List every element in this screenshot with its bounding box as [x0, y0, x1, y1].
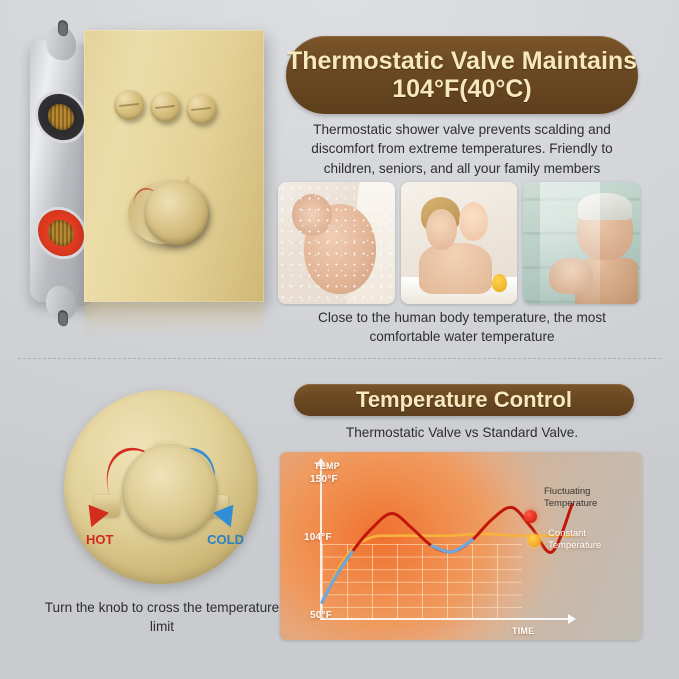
- diverter-knob-1: [114, 90, 144, 120]
- cold-label: COLD: [207, 532, 244, 547]
- temperature-comparison-chart: TEMP 150°F 104°F 50°F TIME Fluctuating T…: [280, 452, 642, 640]
- inlet-port-cold: [38, 207, 84, 258]
- mounting-slot-top: [58, 20, 68, 37]
- product-image-thermostatic-valve: [6, 18, 278, 338]
- lifestyle-photo-row: [278, 182, 640, 304]
- photo-pregnant-woman-shower: [278, 182, 395, 304]
- legend-label-fluctuating: Fluctuating Temperature: [544, 486, 636, 510]
- mounting-ear-bottom: [46, 284, 76, 321]
- photo-caption: Close to the human body temperature, the…: [286, 308, 638, 347]
- section-divider: [18, 358, 661, 359]
- photo-senior-man-shower: [523, 182, 640, 304]
- y-tick-50: 50°F: [310, 610, 332, 621]
- baby-head: [459, 202, 488, 241]
- y-axis-title: TEMP: [314, 461, 340, 471]
- handle-face: [144, 181, 208, 245]
- shower-water-stream: [540, 182, 601, 304]
- diverter-knob-2: [150, 92, 180, 122]
- mounting-ear-top: [46, 24, 76, 61]
- intro-paragraph: Thermostatic shower valve prevents scald…: [286, 120, 638, 178]
- thermostatic-handle: [128, 182, 206, 244]
- knob-handle: [122, 444, 218, 540]
- y-tick-104: 104°F: [304, 532, 332, 543]
- knob-caption: Turn the knob to cross the temperature l…: [36, 598, 288, 637]
- hot-label: HOT: [86, 532, 113, 547]
- water-droplets: [278, 182, 395, 304]
- temperature-control-banner: Temperature Control: [294, 384, 634, 416]
- headline-banner: Thermostatic Valve Maintains 104°F(40°C): [286, 36, 638, 114]
- mother-head: [426, 209, 456, 250]
- bodies-shape: [419, 243, 491, 294]
- port-thread: [48, 103, 74, 132]
- fluctuating-temperature-cold-segment: [322, 540, 472, 602]
- faceplate-reflection: [84, 302, 264, 336]
- legend-label-constant: Constant Temperature: [548, 528, 636, 552]
- valve-backplate: [30, 38, 92, 307]
- rubber-duck: [492, 274, 507, 292]
- valve-faceplate: [84, 30, 264, 302]
- mounting-slot-bottom: [58, 310, 68, 327]
- chart-subheading: Thermostatic Valve vs Standard Valve.: [286, 423, 638, 442]
- legend-dot-constant: [528, 534, 541, 547]
- x-axis-title: TIME: [512, 626, 534, 636]
- photo-mother-and-baby-bath: [401, 182, 518, 304]
- port-thread: [48, 219, 74, 248]
- knob-escutcheon: HOT COLD: [64, 390, 258, 584]
- infographic-page: Thermostatic Valve Maintains 104°F(40°C)…: [0, 0, 679, 679]
- inlet-port-hot: [38, 91, 84, 142]
- knob-diagram: HOT COLD: [56, 386, 266, 596]
- legend-dot-fluctuating: [524, 510, 537, 523]
- y-tick-150: 150°F: [310, 474, 338, 485]
- diverter-knob-3: [186, 94, 216, 124]
